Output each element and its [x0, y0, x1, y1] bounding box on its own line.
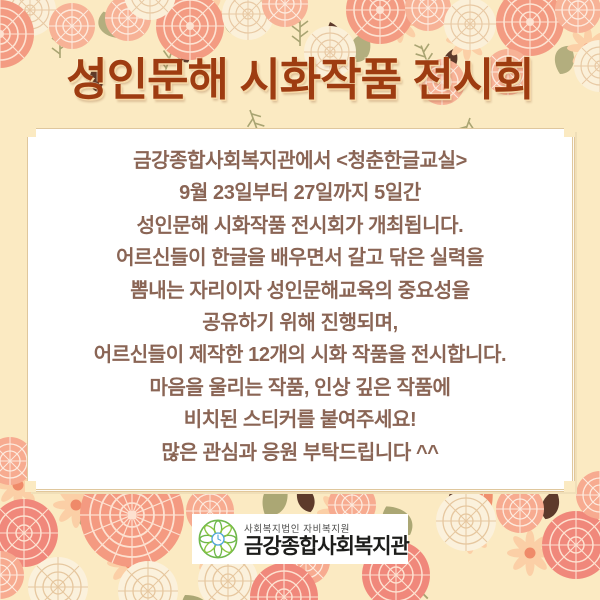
body-line: 공유하기 위해 진행되며, — [202, 307, 397, 339]
organization-logo: 사회복지법인 자비복지원 금강종합사회복지관 — [192, 514, 408, 564]
body-line: 금강종합사회복지관에서 <청춘한글교실> — [133, 145, 467, 177]
body-line: 어르신들이 제작한 12개의 시화 작품을 전시합니다. — [94, 339, 506, 371]
body-line: 비치된 스티커를 붙여주세요! — [184, 404, 417, 436]
poster-canvas: 성인문해 시화작품 전시회 금강종합사회복지관에서 <청춘한글교실> 9월 23… — [0, 0, 600, 600]
body-line: 마음을 울리는 작품, 인상 깊은 작품에 — [150, 372, 451, 404]
flower-wheel-emblem-icon — [198, 519, 238, 559]
body-line: 뽐내는 자리이자 성인문해교육의 중요성을 — [130, 275, 469, 307]
page-title: 성인문해 시화작품 전시회 — [66, 43, 533, 108]
body-line: 9월 23일부터 27일까지 5일간 — [179, 177, 421, 209]
content-card: 금강종합사회복지관에서 <청춘한글교실> 9월 23일부터 27일까지 5일간 … — [27, 128, 573, 490]
card-inner-frame: 금강종합사회복지관에서 <청춘한글교실> 9월 23일부터 27일까지 5일간 … — [27, 128, 573, 490]
logo-text-block: 사회복지법인 자비복지원 금강종합사회복지관 — [244, 521, 409, 557]
body-line: 어르신들이 한글을 배우면서 갈고 닦은 실력을 — [116, 242, 484, 274]
body-line: 많은 관심과 응원 부탁드립니다 ^^ — [161, 437, 438, 469]
announcement-body: 금강종합사회복지관에서 <청춘한글교실> 9월 23일부터 27일까지 5일간 … — [28, 129, 572, 489]
logo-organization-name: 금강종합사회복지관 — [244, 536, 409, 557]
logo-subtitle: 사회복지법인 자비복지원 — [244, 521, 409, 535]
title-band: 성인문해 시화작품 전시회 — [0, 40, 600, 110]
body-line: 성인문해 시화작품 전시회가 개최됩니다. — [137, 210, 464, 242]
